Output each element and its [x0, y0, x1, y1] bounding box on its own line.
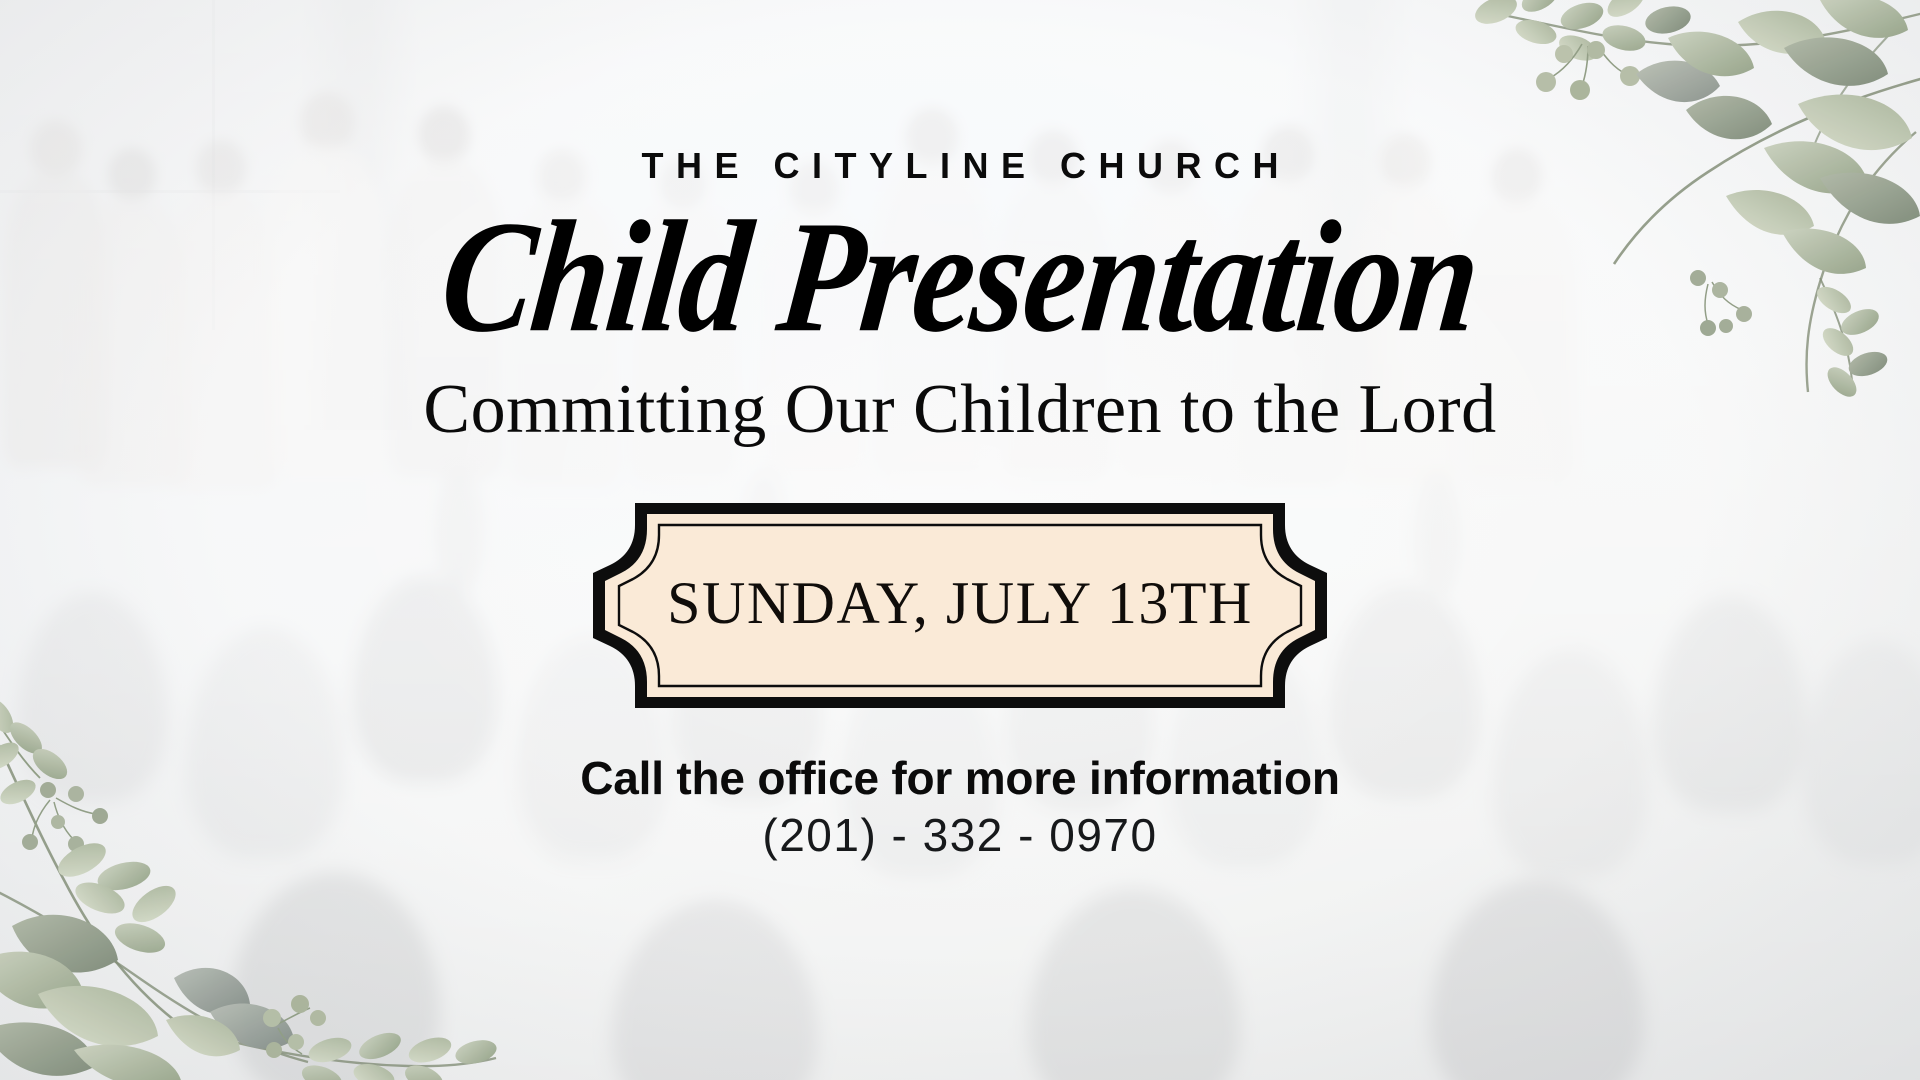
- phone-number: (201) - 332 - 0970: [762, 810, 1157, 861]
- call-to-action-text: Call the office for more information: [580, 754, 1340, 802]
- date-plaque: SUNDAY, JULY 13TH: [575, 503, 1345, 708]
- slide-canvas: THE CITYLINE CHURCH Child Presentation C…: [0, 0, 1920, 1080]
- subtitle-line: Committing Our Children to the Lord: [423, 375, 1496, 445]
- date-text: SUNDAY, JULY 13TH: [575, 503, 1345, 708]
- church-name-eyebrow: THE CITYLINE CHURCH: [629, 148, 1291, 184]
- headline-script: Child Presentation: [435, 204, 1484, 351]
- slide-content: THE CITYLINE CHURCH Child Presentation C…: [0, 0, 1920, 1080]
